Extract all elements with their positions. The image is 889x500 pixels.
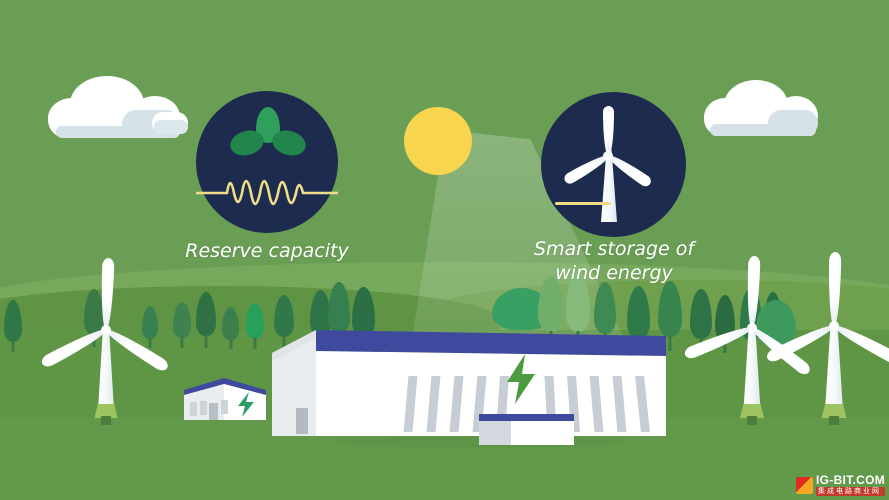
house-window bbox=[221, 400, 228, 414]
turbine-blade bbox=[828, 252, 841, 326]
turbine-tower bbox=[825, 324, 844, 418]
building-door bbox=[296, 408, 308, 434]
badge-label-smart-storage: Smart storage of wind energy bbox=[524, 237, 704, 285]
turbine-hub bbox=[101, 325, 111, 335]
house-door bbox=[209, 403, 218, 420]
watermark-texts: IG-BIT.COM 集成电路商业网 bbox=[816, 474, 885, 496]
ig-bit-watermark: IG-BIT.COM 集成电路商业网 bbox=[796, 474, 885, 496]
badge-reserve-capacity[interactable] bbox=[196, 91, 338, 233]
sun-icon bbox=[404, 107, 472, 175]
cloud-right-icon bbox=[704, 80, 816, 136]
wind-turbine-left bbox=[58, 252, 154, 424]
turbine-hub bbox=[829, 321, 839, 331]
cloud-small-icon bbox=[152, 112, 188, 134]
house-window bbox=[200, 401, 207, 415]
waveform-icon bbox=[196, 163, 338, 223]
ground-line-icon bbox=[555, 202, 611, 205]
turbine-hub bbox=[747, 323, 757, 333]
house-window bbox=[190, 402, 197, 416]
turbine-hub bbox=[603, 151, 613, 161]
lightning-bolt-icon bbox=[503, 354, 543, 406]
tree bbox=[246, 303, 264, 349]
lightning-bolt-icon bbox=[236, 392, 258, 418]
turbine-blade bbox=[100, 258, 115, 330]
turbine-foot bbox=[829, 416, 839, 425]
energy-storage-warehouse bbox=[272, 318, 672, 443]
wind-turbine-right-2 bbox=[784, 246, 884, 424]
watermark-title: IG-BIT.COM bbox=[816, 474, 885, 486]
badge-label-reserve-capacity: Reserve capacity bbox=[177, 239, 357, 263]
building-annex bbox=[479, 414, 574, 445]
tree bbox=[173, 302, 191, 348]
badge-smart-storage[interactable] bbox=[541, 92, 686, 237]
watermark-subtitle: 集成电路商业网 bbox=[816, 487, 885, 496]
turbine-foot bbox=[747, 416, 757, 425]
tree bbox=[4, 300, 22, 352]
small-substation-house bbox=[176, 376, 270, 422]
turbine-blade bbox=[831, 321, 889, 366]
illustration-canvas: Reserve capacity Smart storage of wind e… bbox=[0, 0, 889, 500]
watermark-logo-icon bbox=[796, 477, 813, 494]
turbine-blade bbox=[603, 106, 614, 156]
tree bbox=[222, 307, 239, 349]
turbine-foot bbox=[101, 416, 111, 425]
tree bbox=[196, 292, 216, 348]
turbine-blade bbox=[746, 256, 761, 328]
